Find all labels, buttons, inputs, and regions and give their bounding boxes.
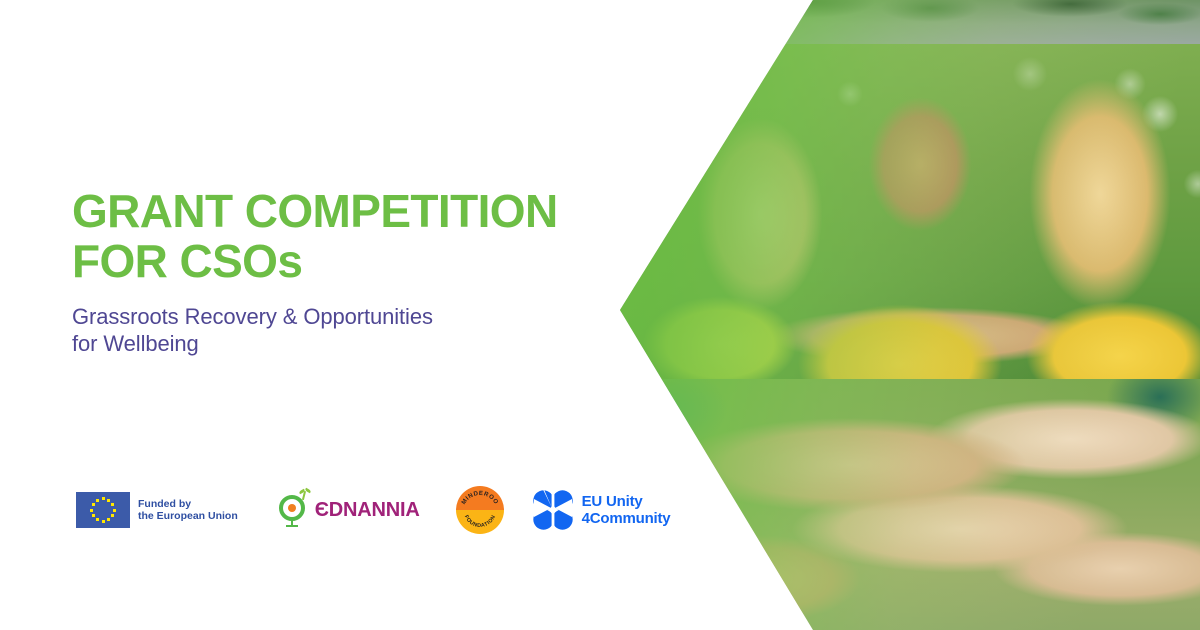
stacked-hands-art [600,379,1200,630]
eu-star [90,509,93,512]
page-subtitle: Grassroots Recovery & Opportunities for … [72,303,552,357]
page-title: GRANT COMPETITION FOR CSOs [72,186,612,286]
eu-star [102,520,105,523]
eu-star [111,503,114,506]
logo-eu-funding: Funded by the European Union [76,492,238,528]
eu-star [113,509,116,512]
hero-photo [600,0,1200,630]
logo-spacer-3 [504,510,532,511]
clover-pinwheel-icon [532,489,574,531]
logo-minderoo-foundation: MINDEROO FOUNDATION [456,486,504,534]
logo-spacer-1 [238,510,278,511]
minderoo-arc-text: MINDEROO FOUNDATION [456,486,504,534]
eu-star [111,514,114,517]
eu-star [102,497,105,500]
eu-star [107,499,110,502]
eu-flag-icon [76,492,130,528]
eu-star [92,514,95,517]
treeline-landscape-art [600,0,1200,44]
ednannia-wordmark: ЄDNANNIA [315,499,420,522]
logo-ednannia: ЄDNANNIA [278,489,420,531]
eu-unity-label: EU Unity 4Community [582,493,671,527]
subtitle-line-1: Grassroots Recovery & Opportunities [72,303,552,330]
minderoo-circle-icon: MINDEROO FOUNDATION [456,486,504,534]
subtitle-line-2: for Wellbeing [72,330,552,357]
eu-unity-line-1: EU Unity [582,493,671,510]
svg-text:FOUNDATION: FOUNDATION [462,514,496,529]
partner-logo-strip: Funded by the European Union ЄDNANNIA [76,482,670,538]
svg-text:MINDEROO: MINDEROO [460,490,500,506]
eu-unity-line-2: 4Community [582,510,671,527]
eu-funding-line-1: Funded by [138,498,238,510]
eu-star [107,518,110,521]
children-embracing-art [600,44,1200,379]
eu-star [96,518,99,521]
logo-eu-unity-4community: EU Unity 4Community [532,489,671,531]
eu-star [92,503,95,506]
promo-banner: GRANT COMPETITION FOR CSOs Grassroots Re… [0,0,1200,630]
photo-band-children [600,44,1200,379]
headline-line-1: GRANT COMPETITION [72,186,612,236]
photo-band-treeline [600,0,1200,44]
eu-star [96,499,99,502]
headline-line-2: FOR CSOs [72,236,612,286]
eu-funding-label: Funded by the European Union [138,498,238,522]
eu-funding-line-2: the European Union [138,510,238,522]
logo-spacer-2 [420,510,456,511]
photo-band-hands [600,379,1200,630]
ednannia-sprout-icon [278,489,312,531]
